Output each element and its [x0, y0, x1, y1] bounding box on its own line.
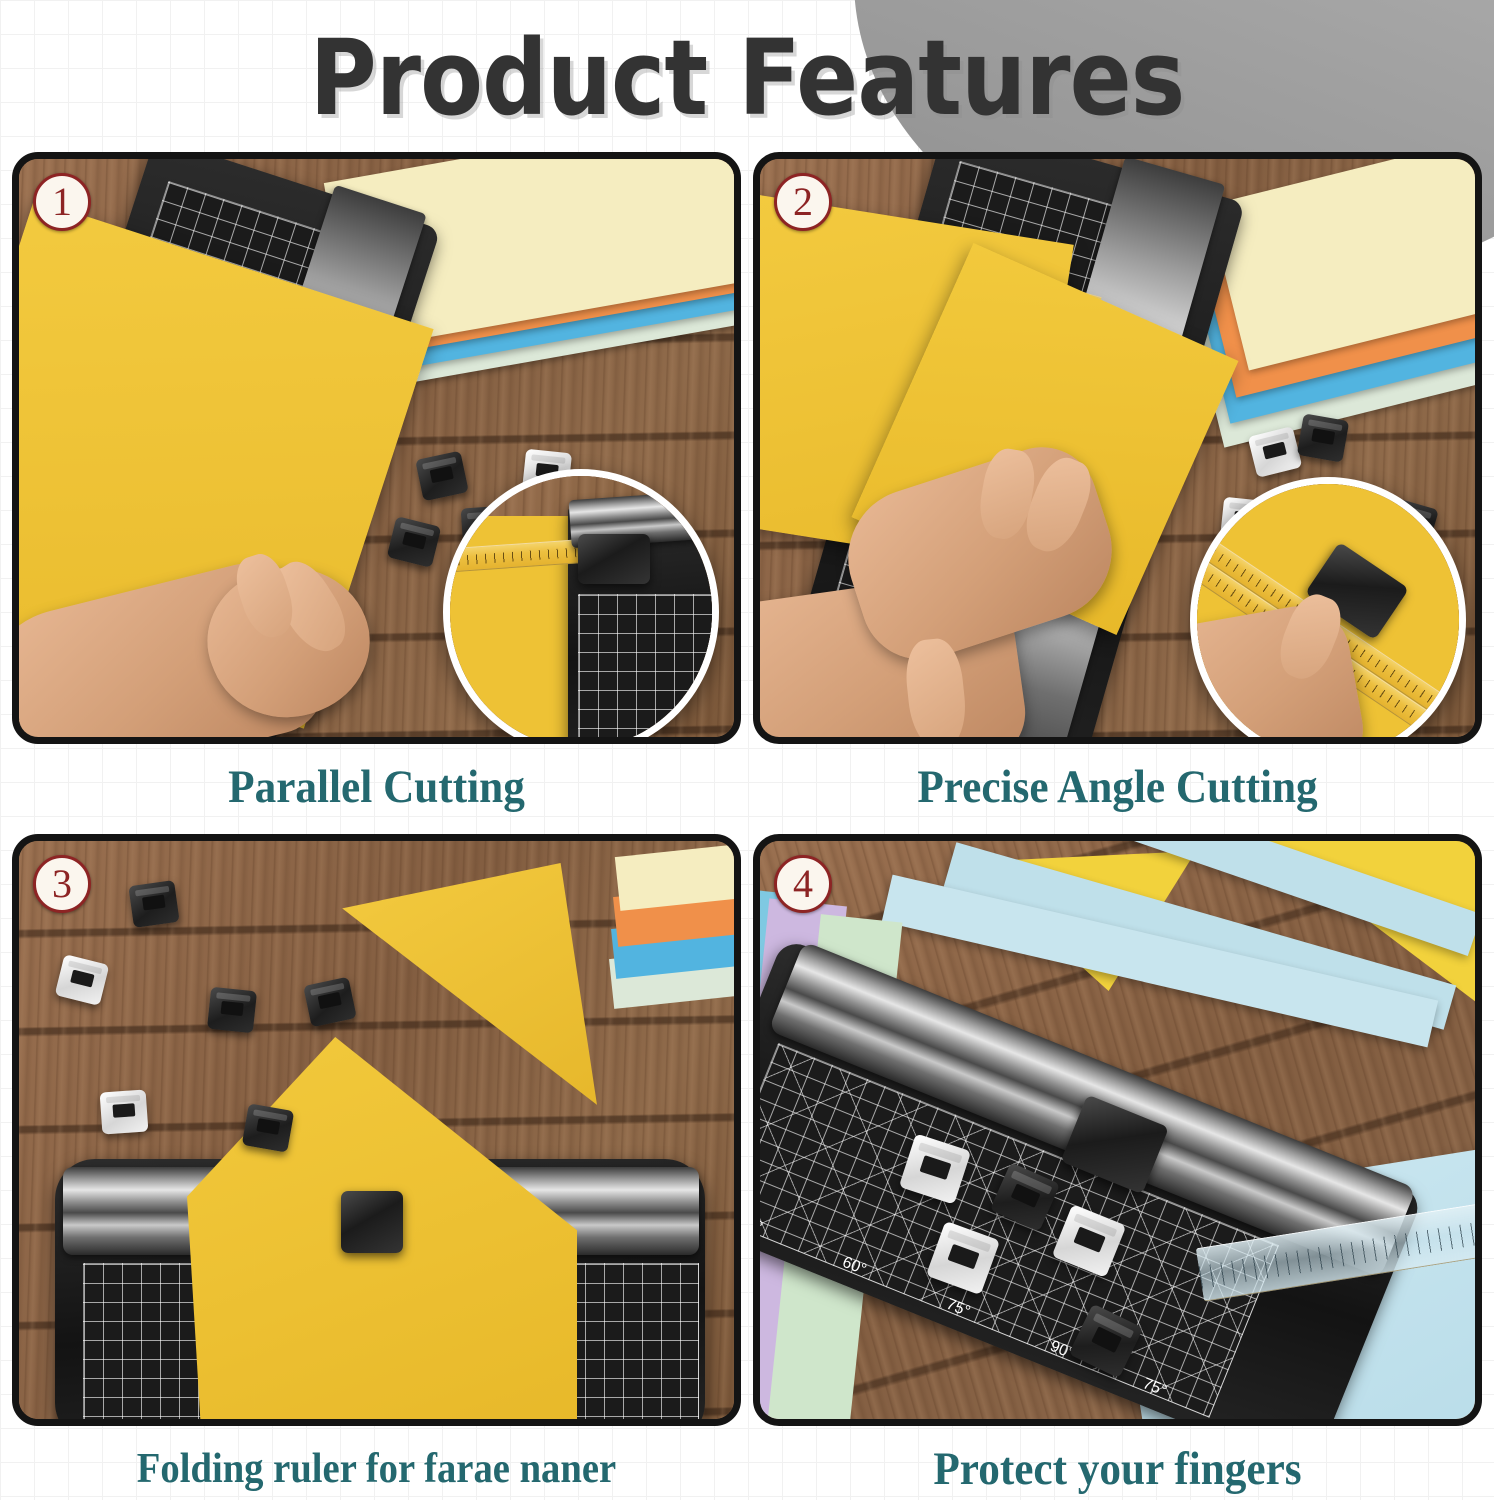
feature-photo-2: 2	[753, 152, 1482, 744]
feature-card-1: 1 Parallel Cutting	[12, 152, 741, 830]
step-badge: 1	[33, 173, 91, 231]
blade-cartridge	[242, 1103, 295, 1152]
blade-cartridge	[100, 1089, 149, 1134]
feature-card-2: 2 Precise Angle Cutting	[753, 152, 1482, 830]
feature-photo-1: 1	[12, 152, 741, 744]
blade-carriage	[341, 1191, 403, 1253]
feature-photo-3: 3	[12, 834, 741, 1426]
step-badge: 2	[774, 173, 832, 231]
infographic-page: Product Features	[0, 0, 1494, 1500]
feature-caption-4: Protect your fingers	[782, 1426, 1453, 1500]
blade-cartridge	[128, 880, 179, 928]
feature-card-4: 45° 60° 75° 90° 75° 4 Protect your finge…	[753, 834, 1482, 1500]
step-badge: 3	[33, 855, 91, 913]
feature-grid: 1 Parallel Cutting	[12, 152, 1482, 1500]
inset-blade-carriage	[578, 534, 650, 584]
inset-cutting-mat	[578, 594, 719, 744]
feature-photo-4: 45° 60° 75° 90° 75° 4	[753, 834, 1482, 1426]
step-badge: 4	[774, 855, 832, 913]
page-title-wrapper: Product Features	[0, 26, 1494, 130]
page-title: Product Features	[310, 26, 1185, 130]
feature-caption-3: Folding ruler for farae naner	[41, 1426, 712, 1500]
blade-cartridge	[207, 987, 257, 1034]
blade-cartridge	[1297, 413, 1350, 462]
feature-caption-2: Precise Angle Cutting	[782, 744, 1453, 830]
magnifier-inset	[443, 469, 719, 744]
feature-card-3: 3 Folding ruler for farae naner	[12, 834, 741, 1500]
feature-caption-1: Parallel Cutting	[41, 744, 712, 830]
magnifier-inset	[1190, 477, 1466, 744]
